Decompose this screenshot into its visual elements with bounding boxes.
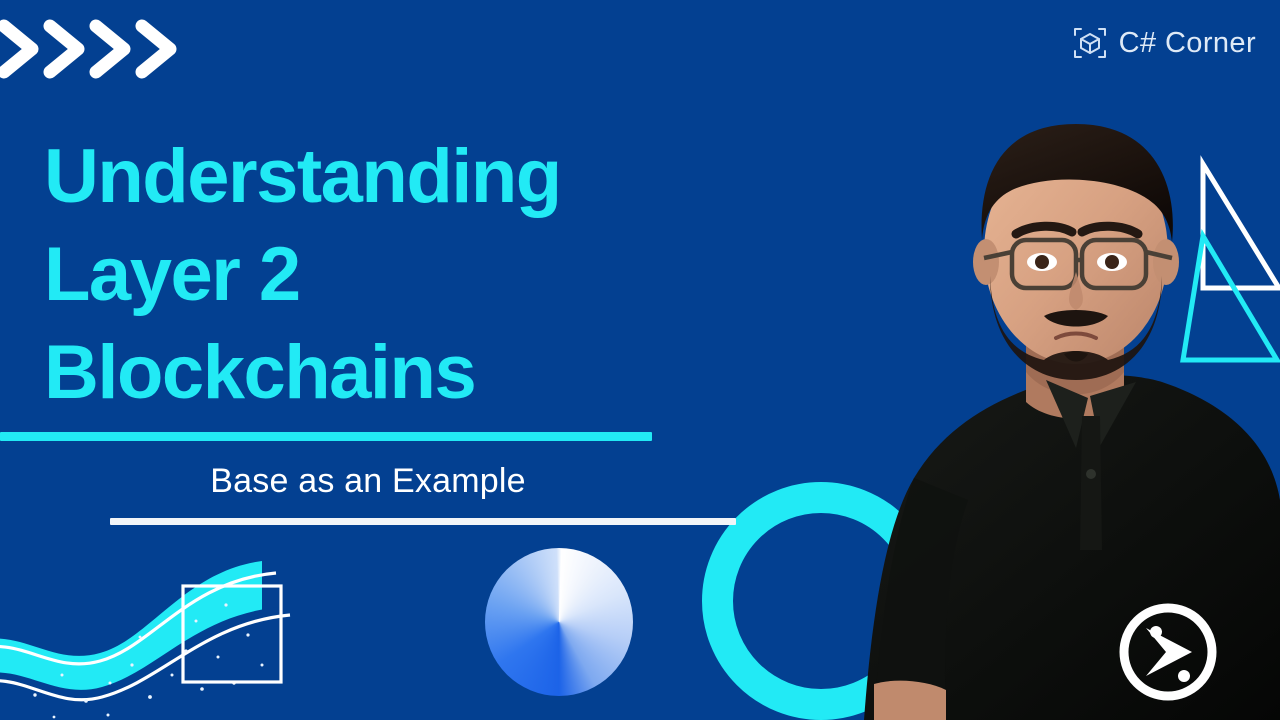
wave-outline-lower bbox=[0, 615, 290, 700]
cube-scan-icon bbox=[1073, 26, 1107, 60]
ear-right bbox=[1153, 239, 1179, 285]
title-line-1: Understanding bbox=[44, 128, 804, 226]
shirt-button bbox=[1086, 469, 1096, 479]
pupil-left bbox=[1035, 255, 1049, 269]
brand-logo[interactable]: C# Corner bbox=[1073, 22, 1256, 64]
wave-lower-band bbox=[0, 607, 280, 720]
divider-cyan bbox=[0, 432, 652, 441]
cyan-wave bbox=[0, 525, 310, 720]
white-rectangle-frame bbox=[183, 586, 281, 682]
ear-left bbox=[973, 239, 999, 285]
presenter-portrait bbox=[850, 80, 1280, 720]
wave-upper-band bbox=[0, 561, 262, 720]
page-title: Understanding Layer 2 Blockchains bbox=[44, 128, 804, 422]
double-chevron-right-icon bbox=[0, 14, 200, 84]
pupil-right bbox=[1105, 255, 1119, 269]
thumbnail-canvas: C# Corner Understanding Layer 2 Blockcha… bbox=[0, 0, 1280, 720]
button-placket bbox=[1080, 416, 1102, 550]
brand-name: C# Corner bbox=[1119, 26, 1256, 60]
forearm-left bbox=[874, 681, 946, 720]
star-dots bbox=[33, 603, 263, 718]
subtitle: Base as an Example bbox=[0, 455, 736, 507]
gradient-sphere bbox=[485, 548, 633, 696]
divider-white bbox=[110, 518, 736, 525]
wave-outline-upper bbox=[0, 573, 276, 664]
title-line-2: Layer 2 bbox=[44, 226, 804, 324]
title-line-3: Blockchains bbox=[44, 324, 804, 422]
